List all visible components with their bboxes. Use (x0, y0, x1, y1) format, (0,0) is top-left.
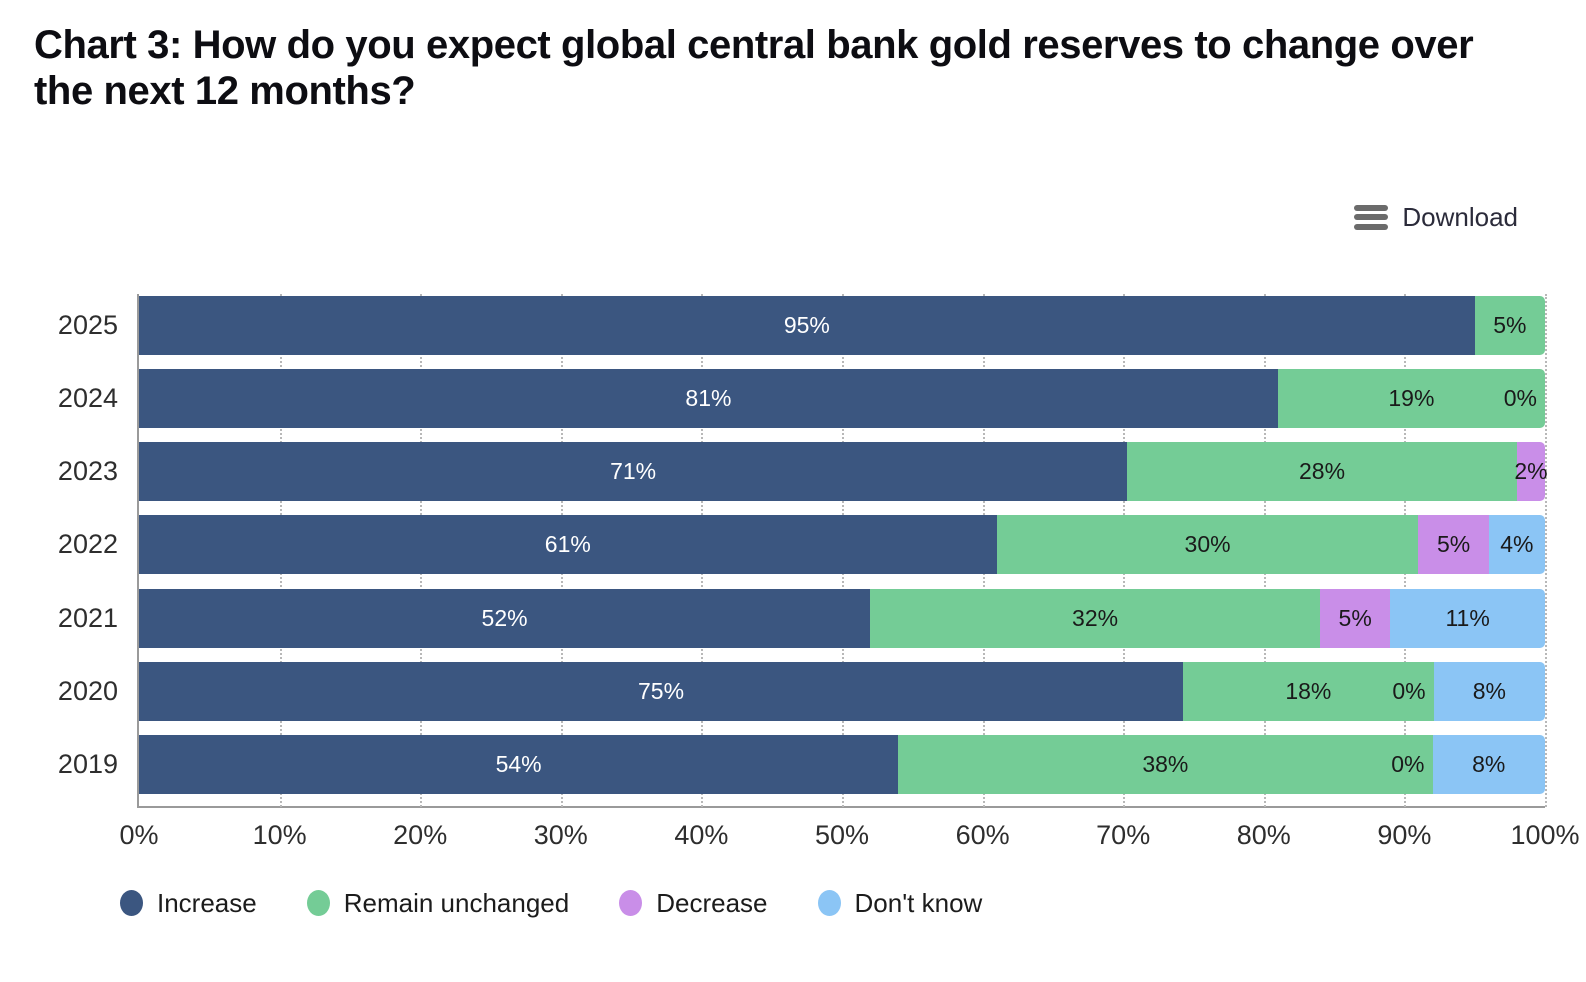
bar-row: 52%32%5%11% (139, 589, 1545, 648)
bar-segment-label: 5% (1339, 605, 1372, 632)
legend-label: Remain unchanged (344, 890, 570, 916)
bar-segment-increase-2023[interactable]: 71% (139, 442, 1127, 501)
legend-label: Increase (157, 890, 257, 916)
bar-segment-increase-2021[interactable]: 52% (139, 589, 870, 648)
legend-swatch-icon (619, 890, 642, 916)
legend-swatch-icon (818, 890, 841, 916)
bar-segment-label: 2% (1514, 458, 1547, 485)
bar-segment-don-t-know-2022[interactable]: 4% (1489, 515, 1545, 574)
bar-segment-label: 81% (685, 385, 731, 412)
bar-segment-remain-unchanged-2025[interactable]: 5% (1475, 296, 1545, 355)
bar-segment-label: 54% (496, 751, 542, 778)
y-tick-2025: 2025 (0, 296, 118, 355)
y-tick-2020: 2020 (0, 662, 118, 721)
bar-segment-remain-unchanged-2019[interactable]: 38% (898, 735, 1432, 794)
bar-segment-label: 52% (482, 605, 528, 632)
bar-segment-increase-2022[interactable]: 61% (139, 515, 997, 574)
bar-segment-remain-unchanged-2021[interactable]: 32% (870, 589, 1320, 648)
bar-segment-decrease-2021[interactable]: 5% (1320, 589, 1390, 648)
legend-swatch-icon (307, 890, 330, 916)
bar-segment-don-t-know-2020[interactable]: 8% (1434, 662, 1545, 721)
bar-segment-decrease-2022[interactable]: 5% (1418, 515, 1488, 574)
legend-label: Decrease (656, 890, 767, 916)
bar-segment-label: 30% (1185, 531, 1231, 558)
chart-plot-area: 2025202420232022202120202019 95%5%81%19%… (0, 0, 1586, 982)
x-tick-10: 10% (253, 820, 307, 851)
bar-row: 54%38%0%8% (139, 735, 1545, 794)
x-tick-50: 50% (815, 820, 869, 851)
bar-segment-increase-2019[interactable]: 54% (139, 735, 898, 794)
bar-row: 61%30%5%4% (139, 515, 1545, 574)
bar-segment-remain-unchanged-2024[interactable]: 19% (1278, 369, 1545, 428)
chart-legend: IncreaseRemain unchangedDecreaseDon't kn… (120, 890, 982, 916)
x-tick-90: 90% (1377, 820, 1431, 851)
y-tick-2021: 2021 (0, 589, 118, 648)
x-tick-20: 20% (393, 820, 447, 851)
x-tick-60: 60% (956, 820, 1010, 851)
bar-segment-label: 5% (1493, 312, 1526, 339)
x-axis-tick-labels: 0%10%20%30%40%50%60%70%80%90%100% (0, 820, 1586, 860)
bar-segment-increase-2020[interactable]: 75% (139, 662, 1183, 721)
legend-item-remain-unchanged[interactable]: Remain unchanged (307, 890, 570, 916)
legend-item-don-t-know[interactable]: Don't know (818, 890, 983, 916)
legend-item-decrease[interactable]: Decrease (619, 890, 767, 916)
bar-segment-increase-2024[interactable]: 81% (139, 369, 1278, 428)
bar-segment-label: 4% (1500, 531, 1533, 558)
bar-segment-label: 19% (1388, 385, 1434, 412)
x-tick-70: 70% (1096, 820, 1150, 851)
x-axis-line (137, 806, 1545, 808)
legend-swatch-icon (120, 890, 143, 916)
x-tick-100: 100% (1510, 820, 1579, 851)
bar-segment-remain-unchanged-2023[interactable]: 28% (1127, 442, 1517, 501)
gridline-100 (1545, 294, 1547, 807)
bar-segment-label: 18% (1285, 678, 1331, 705)
y-axis-tick-labels: 2025202420232022202120202019 (0, 296, 118, 806)
bar-row: 95%5% (139, 296, 1545, 355)
bar-segment-don-t-know-2019[interactable]: 8% (1433, 735, 1545, 794)
bar-segment-label: 8% (1472, 751, 1505, 778)
legend-label: Don't know (855, 890, 983, 916)
y-tick-2022: 2022 (0, 515, 118, 574)
bar-row: 81%19%0% (139, 369, 1545, 428)
bar-segment-label: 75% (638, 678, 684, 705)
bar-segment-remain-unchanged-2020[interactable]: 18% (1183, 662, 1434, 721)
bar-segment-label: 61% (545, 531, 591, 558)
bar-segment-label: 5% (1437, 531, 1470, 558)
bar-segment-label: 8% (1473, 678, 1506, 705)
bar-segment-remain-unchanged-2022[interactable]: 30% (997, 515, 1419, 574)
bar-segment-label: 38% (1142, 751, 1188, 778)
bar-row: 75%18%0%8% (139, 662, 1545, 721)
y-tick-2023: 2023 (0, 442, 118, 501)
bar-segment-label: 95% (784, 312, 830, 339)
y-tick-2024: 2024 (0, 369, 118, 428)
y-tick-2019: 2019 (0, 735, 118, 794)
bar-segment-increase-2025[interactable]: 95% (139, 296, 1475, 355)
legend-item-increase[interactable]: Increase (120, 890, 257, 916)
x-tick-40: 40% (674, 820, 728, 851)
bar-segment-don-t-know-2021[interactable]: 11% (1390, 589, 1545, 648)
bar-segment-label: 11% (1445, 605, 1489, 632)
bar-segment-label: 71% (610, 458, 656, 485)
x-tick-0: 0% (119, 820, 158, 851)
x-tick-80: 80% (1237, 820, 1291, 851)
bar-segment-decrease-2023[interactable]: 2% (1517, 442, 1545, 501)
bar-row: 71%28%2% (139, 442, 1545, 501)
bar-rows: 95%5%81%19%0%71%28%2%61%30%5%4%52%32%5%1… (139, 296, 1545, 806)
bar-segment-label: 28% (1299, 458, 1345, 485)
bar-segment-label: 32% (1072, 605, 1118, 632)
x-tick-30: 30% (534, 820, 588, 851)
